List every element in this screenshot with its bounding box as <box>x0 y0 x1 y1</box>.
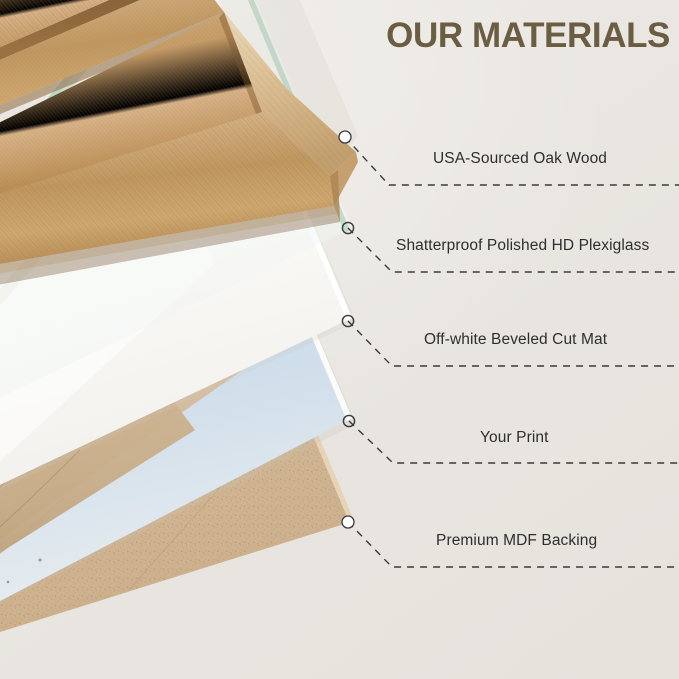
marker-dot-mdf-backing <box>342 516 354 528</box>
materials-infographic: OUR MATERIALS USA-Sourced Oak Wood Shatt… <box>0 0 679 679</box>
leader-line-mdf-backing <box>0 0 679 679</box>
callout-label-mdf-backing: Premium MDF Backing <box>436 532 597 550</box>
